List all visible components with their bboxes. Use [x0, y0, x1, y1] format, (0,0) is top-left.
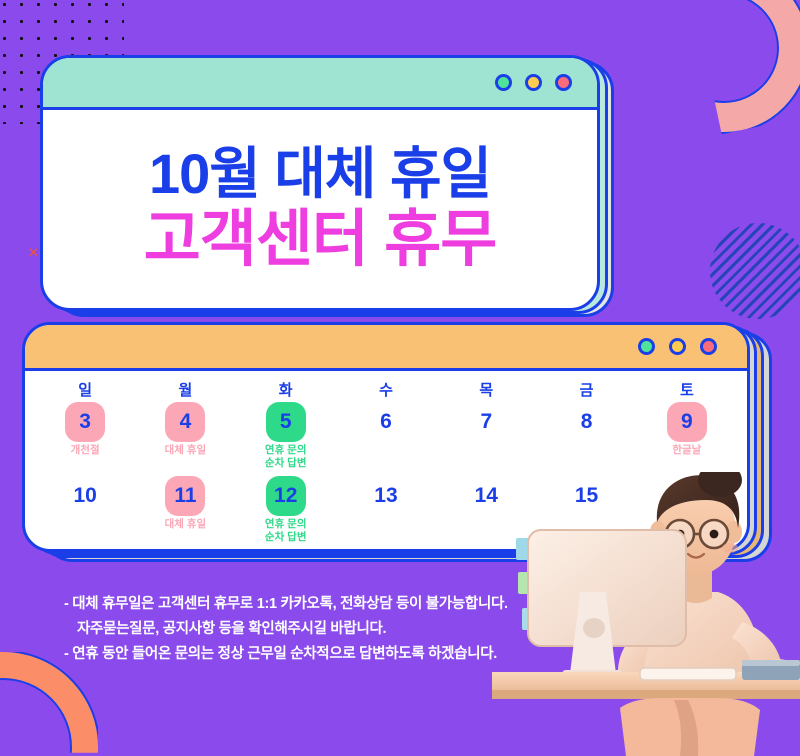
headline-line-2: 고객센터 휴무 — [144, 207, 496, 274]
x-mark-decoration: ✕ — [28, 246, 39, 261]
weekday-header-3: 수 — [336, 379, 436, 402]
calendar-day-4[interactable]: 4대체 휴일 — [135, 402, 235, 476]
weekday-header-0: 일 — [35, 379, 135, 402]
day-number: 8 — [567, 402, 607, 442]
day-number: 6 — [366, 402, 406, 442]
day-number: 3 — [65, 402, 105, 442]
calendar-day-9[interactable]: 9한글날 — [637, 402, 737, 476]
title-window: 10월 대체 휴일 고객센터 휴무 — [40, 55, 608, 317]
day-number: 16 — [667, 476, 707, 516]
calendar-window: 일월화수목금토3개천절4대체 휴일5연휴 문의 순차 답변6789한글날1011… — [22, 322, 774, 562]
striped-circle-decoration — [710, 223, 800, 319]
calendar-day-15[interactable]: 15 — [536, 476, 636, 550]
day-label: 한글날 — [672, 444, 701, 457]
monitor-base — [562, 670, 622, 679]
day-number: 15 — [567, 476, 607, 516]
calendar-day-10[interactable]: 10 — [35, 476, 135, 550]
note-line-1: - 대체 휴무일은 고객센터 휴무로 1:1 카카오톡, 전화상담 등이 불가능… — [64, 592, 584, 617]
keyboard — [640, 668, 736, 680]
calendar-day-12[interactable]: 12연휴 문의 순차 답변 — [236, 476, 336, 550]
day-number: 4 — [165, 402, 205, 442]
note-line-3: - 연휴 동안 들어온 문의는 정상 근무일 순차적으로 답변하도록 하겠습니다… — [64, 642, 584, 667]
calendar-day-13[interactable]: 13 — [336, 476, 436, 550]
day-label: 개천절 — [71, 444, 100, 457]
calendar-day-7[interactable]: 7 — [436, 402, 536, 476]
weekday-header-2: 화 — [236, 379, 336, 402]
monitor-stand-hole — [583, 618, 605, 638]
day-number: 7 — [466, 402, 506, 442]
weekday-header-5: 금 — [536, 379, 636, 402]
calendar-dot-yellow-icon[interactable] — [669, 338, 686, 355]
window-dot-red-icon[interactable] — [555, 74, 572, 91]
day-number: 12 — [266, 476, 306, 516]
character-arm-right — [732, 622, 782, 672]
calendar-day-3[interactable]: 3개천절 — [35, 402, 135, 476]
notebook-pages — [742, 660, 800, 666]
calendar-day-6[interactable]: 6 — [336, 402, 436, 476]
note-line-2: 자주묻는질문, 공지사항 등을 확인해주시길 바랍니다. — [64, 617, 584, 642]
window-dot-yellow-icon[interactable] — [525, 74, 542, 91]
day-label: 연휴 문의 순차 답변 — [265, 444, 307, 470]
title-window-content: 10월 대체 휴일 고객센터 휴무 — [43, 110, 597, 308]
calendar-grid: 일월화수목금토3개천절4대체 휴일5연휴 문의 순차 답변6789한글날1011… — [25, 371, 747, 550]
title-window-titlebar — [43, 58, 597, 110]
day-number: 5 — [266, 402, 306, 442]
desk-edge — [492, 690, 800, 699]
character-neck — [680, 558, 712, 603]
calendar-window-titlebar — [25, 325, 747, 371]
pink-arc-decoration — [624, 0, 800, 148]
desk-top — [492, 672, 800, 694]
character-legs-shadow — [674, 700, 698, 756]
day-label: 대체 휴일 — [165, 518, 207, 531]
day-label: 대체 휴일 — [165, 444, 207, 457]
character-arm-left — [618, 630, 656, 674]
calendar-day-14[interactable]: 14 — [436, 476, 536, 550]
calendar-day-5[interactable]: 5연휴 문의 순차 답변 — [236, 402, 336, 476]
weekday-header-1: 월 — [135, 379, 235, 402]
character-torso — [628, 592, 761, 686]
calendar-day-16[interactable]: 16 — [637, 476, 737, 550]
day-label: 연휴 문의 순차 답변 — [265, 518, 307, 544]
weekday-header-6: 토 — [637, 379, 737, 402]
day-number: 14 — [466, 476, 506, 516]
calendar-dot-red-icon[interactable] — [700, 338, 717, 355]
calendar-window-body: 일월화수목금토3개천절4대체 휴일5연휴 문의 순차 답변6789한글날1011… — [22, 322, 750, 552]
sticky-note-green — [518, 572, 535, 594]
day-number: 11 — [165, 476, 205, 516]
calendar-day-11[interactable]: 11대체 휴일 — [135, 476, 235, 550]
character-hand-right — [760, 659, 796, 681]
notebook — [742, 664, 800, 680]
calendar-dot-green-icon[interactable] — [638, 338, 655, 355]
title-window-body: 10월 대체 휴일 고객센터 휴무 — [40, 55, 600, 311]
day-number: 13 — [366, 476, 406, 516]
orange-arc-decoration — [0, 652, 98, 756]
footer-notes: - 대체 휴무일은 고객센터 휴무로 1:1 카카오톡, 전화상담 등이 불가능… — [64, 592, 584, 667]
calendar-day-8[interactable]: 8 — [536, 402, 636, 476]
promo-banner: ✕ 10월 대체 휴일 고객센터 휴무 일월화 — [0, 0, 800, 756]
day-number: 10 — [65, 476, 105, 516]
character-legs — [620, 698, 760, 756]
headline-line-1: 10월 대체 휴일 — [149, 144, 491, 204]
window-dot-green-icon[interactable] — [495, 74, 512, 91]
day-number: 9 — [667, 402, 707, 442]
weekday-header-4: 목 — [436, 379, 536, 402]
